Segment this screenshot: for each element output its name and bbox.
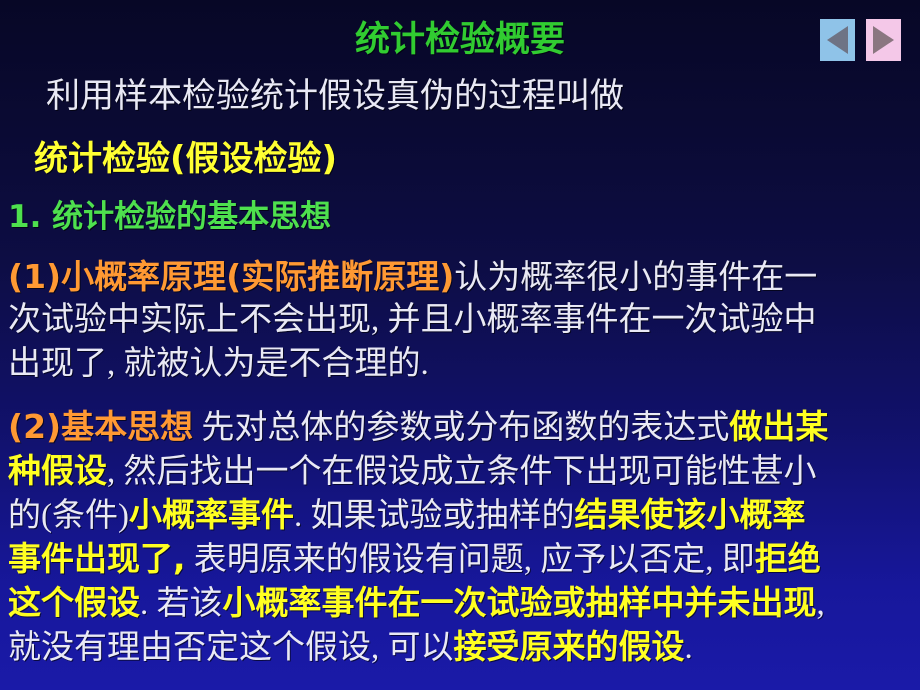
item-2-text-8: 就没有理由否定这个假设, 可以 bbox=[8, 630, 454, 666]
item-2-line-6: 就没有理由否定这个假设, 可以接受原来的假设. bbox=[0, 630, 920, 674]
item-2-line-3: 的(条件)小概率事件. 如果试验或抽样的结果使该小概率 bbox=[0, 498, 920, 542]
item-2-highlight-1: 做出某 bbox=[729, 407, 828, 446]
item-1-text-c: 出现了, 就被认为是不合理的. bbox=[8, 346, 429, 382]
item-2-line-2: 种假设, 然后找出一个在假设成立条件下出现可能性甚小 bbox=[0, 454, 920, 498]
section-1-heading: 1. 统计检验的基本思想 bbox=[0, 202, 920, 246]
item-2-line-1: (2)基本思想 先对总体的参数或分布函数的表达式做出某 bbox=[0, 410, 920, 454]
item-2-highlight-7: 这个假设 bbox=[8, 583, 140, 622]
item-2-highlight-4: 结果使该小概率 bbox=[574, 495, 805, 534]
item-2-line-4: 事件出现了, 表明原来的假设有问题, 应予以否定, 即拒绝 bbox=[0, 542, 920, 586]
item-1-line-1: (1)小概率原理(实际推断原理)认为概率很小的事件在一 bbox=[0, 260, 920, 304]
item-2-highlight-8: 小概率事件在一次试验或抽样中并未出现 bbox=[223, 583, 817, 622]
item-2-highlight-6: 拒绝 bbox=[755, 539, 821, 578]
subtitle-line: 统计检验(假设检验) bbox=[0, 142, 920, 202]
item-2-highlight-3: 小概率事件 bbox=[129, 495, 294, 534]
item-2-text-5: 表明原来的假设有问题, 应予以否定, 即 bbox=[186, 542, 755, 578]
item-1-line-2: 次试验中实际上不会出现, 并且小概率事件在一次试验中 bbox=[0, 304, 920, 348]
item-1-text-a: 认为概率很小的事件在一 bbox=[454, 260, 817, 296]
item-2-line-5: 这个假设. 若该小概率事件在一次试验或抽样中并未出现, bbox=[0, 586, 920, 630]
item-2-text-1: 先对总体的参数或分布函数的表达式 bbox=[193, 410, 729, 446]
item-2-text-2: , 然后找出一个在假设成立条件下出现可能性甚小 bbox=[107, 454, 817, 490]
item-2-text-3: 的(条件) bbox=[8, 498, 129, 534]
slide-navigation bbox=[820, 19, 901, 61]
item-2-highlight-2: 种假设 bbox=[8, 451, 107, 490]
item-1-text-b: 次试验中实际上不会出现, 并且小概率事件在一次试验中 bbox=[8, 302, 817, 338]
item-2-label: (2)基本思想 bbox=[8, 407, 193, 446]
item-2-highlight-5: 事件出现了, bbox=[8, 539, 186, 578]
intro-line: 利用样本检验统计假设真伪的过程叫做 bbox=[0, 80, 920, 142]
item-2-highlight-9: 接受原来的假设 bbox=[454, 627, 685, 666]
item-1-label: (1)小概率原理(实际推断原理) bbox=[8, 257, 454, 296]
item-2-text-6: . 若该 bbox=[140, 586, 223, 622]
triangle-left-icon bbox=[827, 26, 848, 54]
next-slide-button[interactable] bbox=[866, 19, 901, 61]
triangle-right-icon bbox=[873, 26, 894, 54]
item-2-text-9: . bbox=[685, 630, 693, 666]
slide-canvas: 统计检验概要 利用样本检验统计假设真伪的过程叫做 统计检验(假设检验) 1. 统… bbox=[0, 0, 920, 690]
item-2-text-7: , bbox=[817, 586, 825, 622]
slide-title: 统计检验概要 bbox=[0, 19, 920, 61]
slide-body: 利用样本检验统计假设真伪的过程叫做 统计检验(假设检验) 1. 统计检验的基本思… bbox=[0, 80, 920, 674]
item-2-text-4: . 如果试验或抽样的 bbox=[294, 498, 575, 534]
previous-slide-button[interactable] bbox=[820, 19, 855, 61]
item-1-line-3: 出现了, 就被认为是不合理的. bbox=[0, 348, 920, 392]
